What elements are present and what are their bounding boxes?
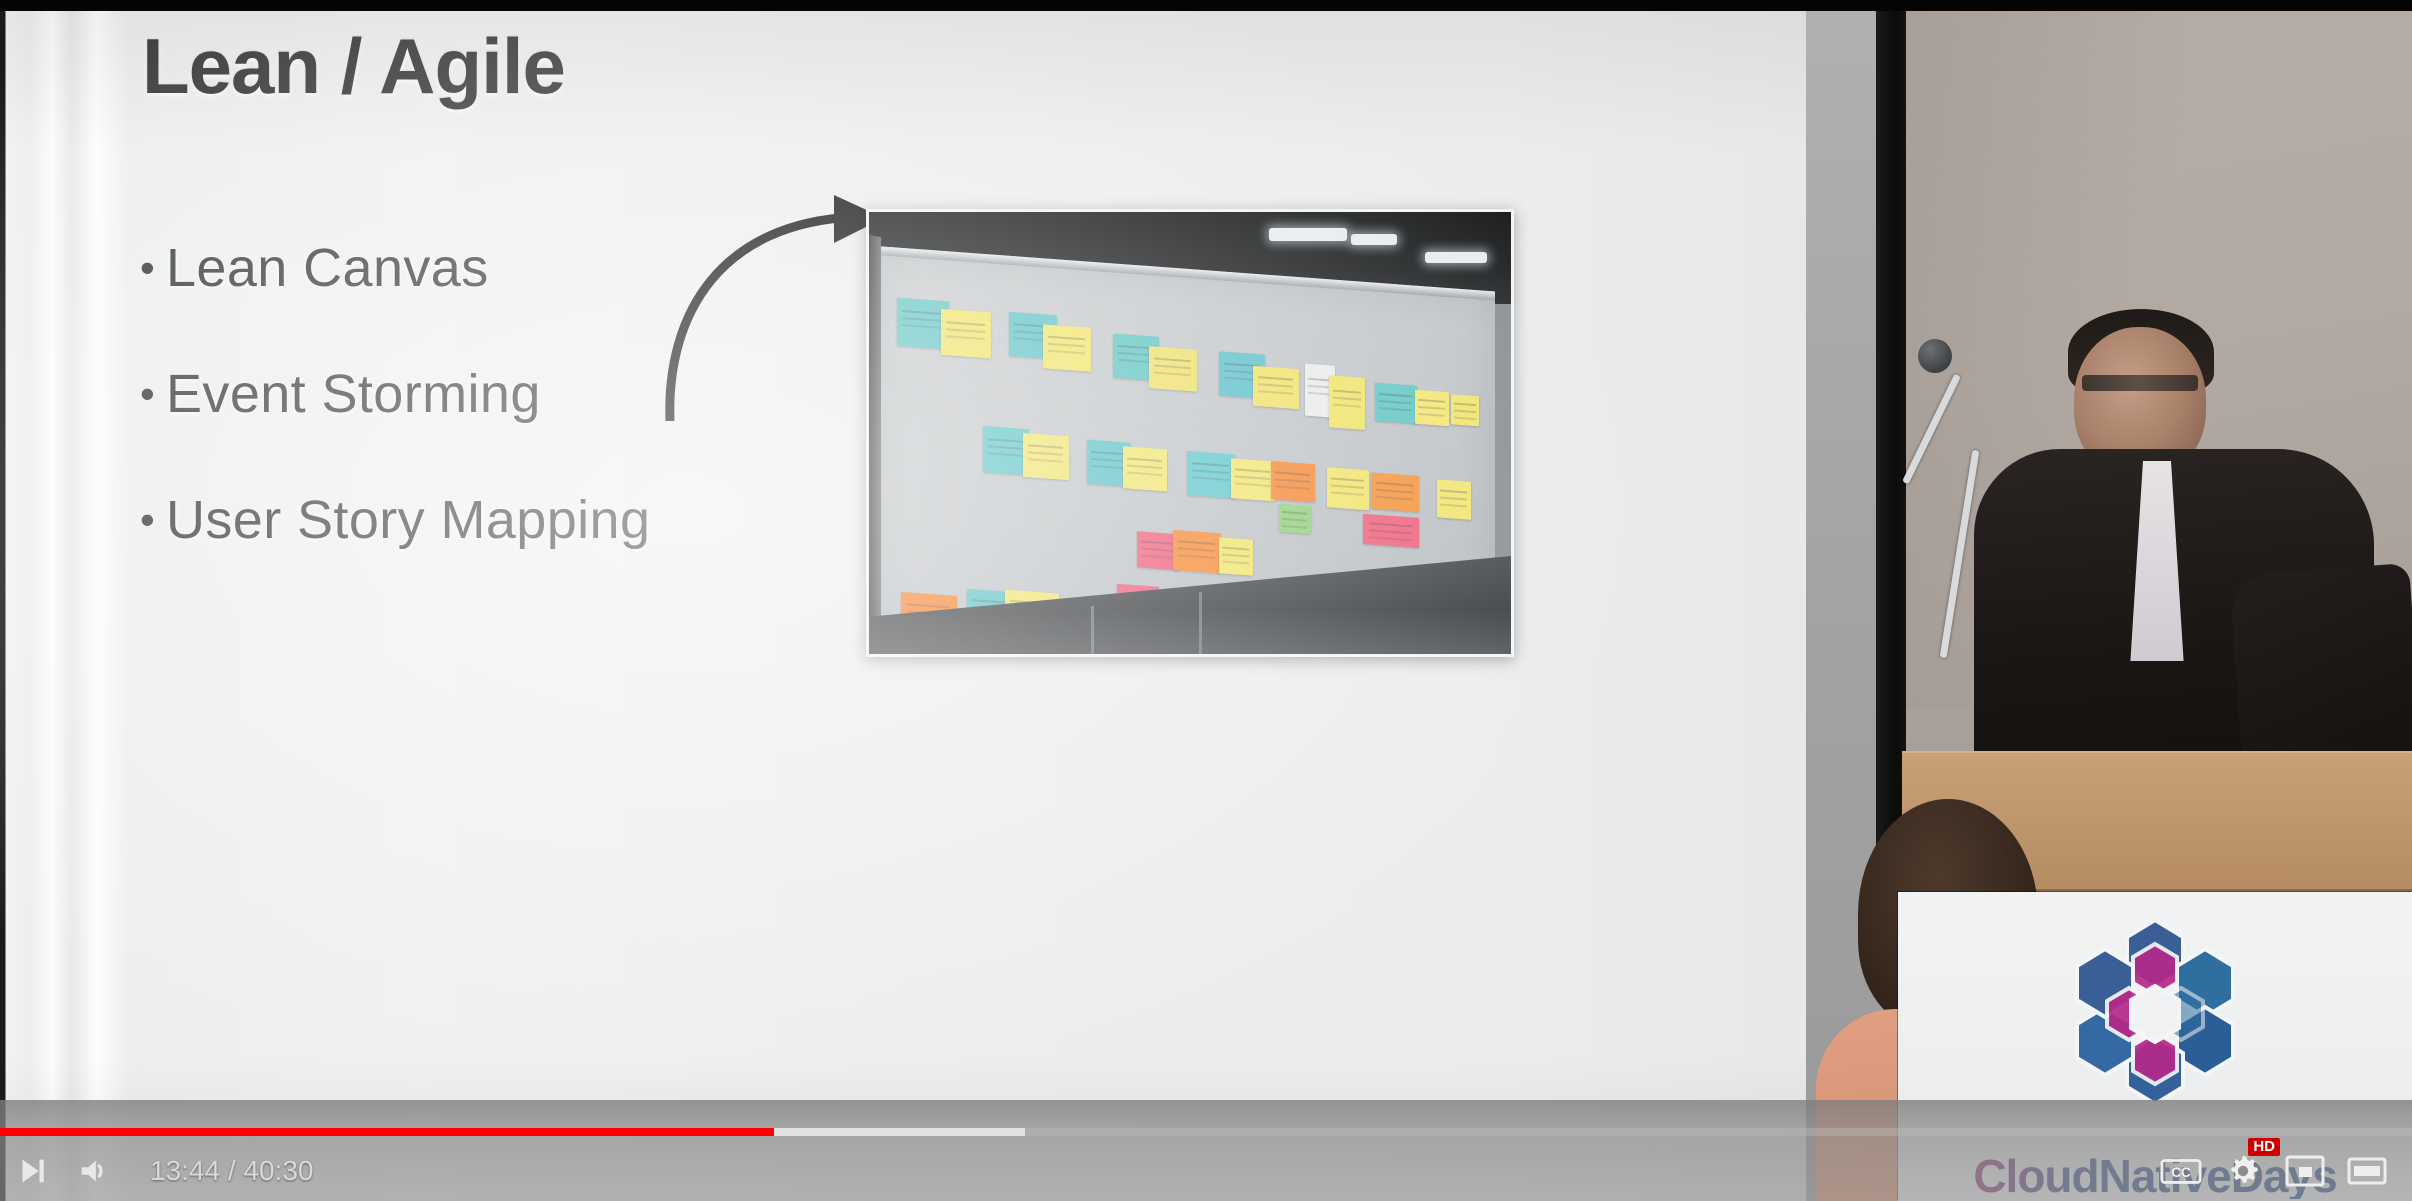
ceiling-lamp	[1425, 252, 1487, 263]
speaker-arm	[2229, 563, 2412, 775]
miniplayer-icon	[2285, 1154, 2325, 1188]
sticky-note	[1173, 530, 1221, 574]
player-control-bar[interactable]: 13:44 / 40:30 CC HD	[0, 1100, 2412, 1201]
bullet-marker-icon: •	[140, 373, 166, 415]
control-button-row: 13:44 / 40:30 CC HD	[0, 1140, 2412, 1201]
time-display: 13:44 / 40:30	[150, 1155, 313, 1187]
microphone-icon	[1918, 339, 1952, 373]
miniplayer-button[interactable]	[2274, 1140, 2336, 1201]
letterbox-top	[0, 0, 2412, 11]
slide-bullet-list: • Lean Canvas • Event Storming • User St…	[140, 237, 900, 615]
cc-icon: CC	[2160, 1154, 2202, 1188]
sticky-note	[1279, 504, 1311, 534]
list-item: • User Story Mapping	[140, 489, 900, 551]
sticky-note	[1253, 366, 1299, 409]
sticky-note	[941, 309, 991, 359]
sticky-note	[1149, 346, 1197, 392]
sticky-note	[1023, 433, 1069, 480]
captions-button[interactable]: CC	[2150, 1140, 2212, 1201]
presentation-slide: Lean / Agile • Lean Canvas • Event Storm…	[0, 9, 1808, 1201]
whiteboard-photo	[866, 209, 1514, 657]
right-control-group: CC HD	[2150, 1140, 2412, 1201]
ceiling-lamp	[1351, 234, 1397, 245]
next-video-button[interactable]	[0, 1140, 62, 1201]
svg-text:CC: CC	[2171, 1165, 2191, 1180]
sticky-note	[1043, 324, 1091, 372]
video-player[interactable]: Lean / Agile • Lean Canvas • Event Storm…	[0, 0, 2412, 1201]
hd-quality-badge: HD	[2248, 1138, 2280, 1156]
theater-mode-button[interactable]	[2336, 1140, 2398, 1201]
next-icon	[14, 1154, 48, 1188]
sticky-note	[1219, 537, 1253, 575]
bullet-text: Event Storming	[166, 363, 541, 425]
sticky-note	[1451, 394, 1479, 426]
list-item: • Event Storming	[140, 363, 900, 425]
floor-seam	[1091, 606, 1094, 654]
volume-icon	[75, 1154, 111, 1188]
sticky-note	[1231, 458, 1275, 501]
gear-icon	[2224, 1152, 2262, 1190]
speaker-glasses	[2082, 375, 2198, 391]
sticky-note	[1375, 383, 1417, 424]
bullet-marker-icon: •	[140, 499, 166, 541]
bullet-marker-icon: •	[140, 247, 166, 289]
sticky-note	[1371, 472, 1419, 512]
hexagon-logo-icon	[2055, 914, 2255, 1110]
bullet-text: User Story Mapping	[166, 489, 650, 551]
slide-title: Lean / Agile	[142, 21, 565, 112]
sticky-note	[1415, 390, 1449, 426]
ceiling-lamp	[1269, 228, 1347, 241]
progress-bar-track[interactable]	[0, 1128, 2412, 1136]
bullet-text: Lean Canvas	[166, 237, 489, 299]
whiteboard-edge	[869, 235, 881, 657]
settings-button[interactable]: HD	[2212, 1140, 2274, 1201]
sticky-note	[1327, 467, 1369, 510]
list-item: • Lean Canvas	[140, 237, 900, 299]
sticky-note	[1123, 446, 1167, 491]
theater-icon	[2347, 1154, 2387, 1188]
sticky-note	[1363, 514, 1419, 548]
volume-button[interactable]	[62, 1140, 124, 1201]
sticky-note	[1437, 479, 1471, 519]
sticky-note	[1329, 375, 1365, 430]
progress-played	[0, 1128, 774, 1136]
sticky-note	[1271, 461, 1315, 502]
sticky-note	[1187, 451, 1235, 499]
floor-seam	[1199, 592, 1202, 654]
